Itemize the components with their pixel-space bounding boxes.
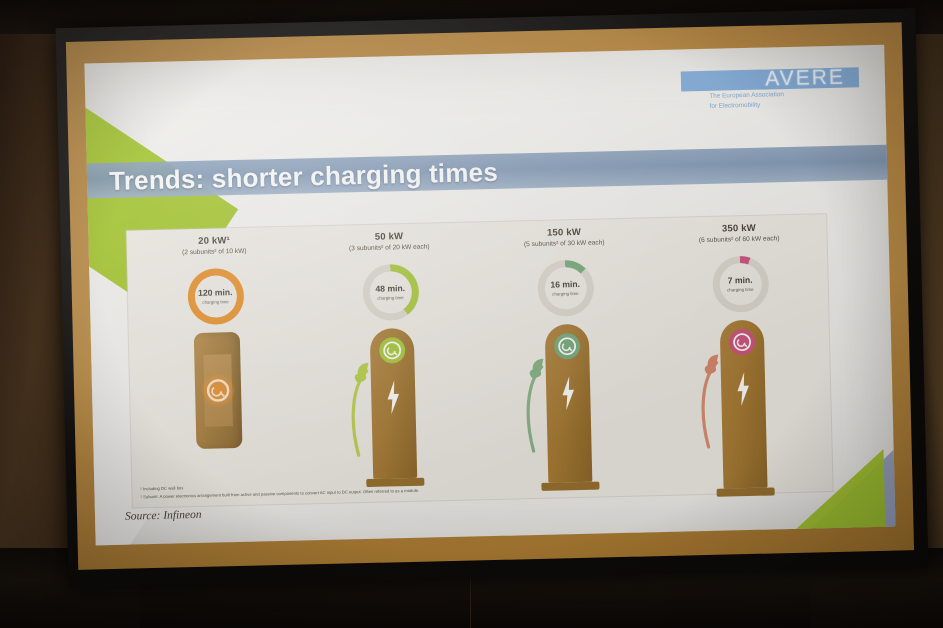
avere-logo-wordmark: AVERE	[765, 66, 845, 92]
page-title: Trends: shorter charging times	[109, 148, 810, 198]
donut-center: 120 min.charging time	[194, 275, 237, 318]
charging-time-donut: 120 min.charging time	[187, 268, 244, 325]
chart-column-3: 150 kW(5 subunits² of 30 kW each)16 min.…	[476, 218, 657, 499]
charging-time-donut: 48 min.charging time	[362, 264, 419, 321]
charging-minutes: 48 min.	[375, 284, 405, 293]
plug-icon	[553, 333, 580, 360]
charging-station-graphic	[369, 328, 417, 479]
subunits-label: (3 subunits² of 20 kW each)	[302, 242, 477, 253]
charging-minutes: 7 min.	[728, 276, 753, 285]
plug-glyph	[553, 333, 580, 360]
subunits-label: (5 subunits² of 30 kW each)	[477, 238, 652, 249]
charging-cable	[521, 355, 554, 466]
charging-station-graphic	[544, 324, 592, 483]
charging-cable	[346, 359, 379, 470]
charging-time-caption: charging time	[727, 286, 753, 292]
plug-icon	[378, 337, 405, 364]
column-header: 20 kW¹(2 subunits² of 10 kW)	[126, 233, 301, 257]
subunits-label: (2 subunits² of 10 kW)	[127, 246, 302, 257]
avere-tagline-line2: for Electromobility	[709, 99, 829, 111]
wallbox-unit	[193, 332, 242, 449]
cabinet-right	[470, 569, 811, 628]
donut-center: 7 min.charging time	[719, 263, 762, 306]
avere-logo-tagline: The European Association for Electromobi…	[709, 89, 829, 111]
chart-panel: 350 kW(6 subunits² of 60 kW each)7 min.c…	[126, 214, 832, 507]
room-photo: AVERE The European Association for Elect…	[0, 0, 943, 628]
column-header: 150 kW(5 subunits² of 30 kW each)	[476, 225, 651, 249]
charging-time-caption: charging time	[552, 291, 578, 297]
chart-column-1: 20 kW¹(2 subunits² of 10 kW)120 min.char…	[126, 226, 307, 507]
plug-glyph	[378, 337, 405, 364]
chart-column-2: 50 kW(3 subunits² of 20 kW each)48 min.c…	[301, 222, 482, 503]
donut-center: 48 min.charging time	[369, 271, 412, 314]
projector-screen: AVERE The European Association for Elect…	[56, 8, 929, 588]
plug-icon	[193, 332, 242, 449]
subunits-label: (6 subunits² of 60 kW each)	[652, 234, 827, 245]
column-header: 350 kW(6 subunits² of 60 kW each)	[651, 221, 826, 245]
screen-frame: AVERE The European Association for Elect…	[66, 22, 914, 570]
plug-icon	[728, 329, 755, 356]
charging-pillar	[369, 328, 417, 479]
charging-time-caption: charging time	[377, 295, 403, 301]
charging-station-graphic	[719, 320, 767, 489]
donut-center: 16 min.charging time	[544, 267, 587, 310]
charging-pillar	[544, 324, 592, 483]
plug-glyph	[728, 329, 755, 356]
source-caption: Source: Infineon	[125, 509, 202, 523]
charging-minutes: 16 min.	[550, 280, 580, 289]
charging-pillar	[719, 320, 767, 489]
charging-station-graphic	[193, 332, 242, 449]
charging-minutes: 120 min.	[198, 289, 233, 298]
column-header: 50 kW(3 subunits² of 20 kW each)	[301, 229, 476, 253]
charging-cable	[696, 351, 729, 462]
charging-time-caption: charging time	[202, 299, 228, 305]
chart-column-4: 350 kW(6 subunits² of 60 kW each)7 min.c…	[651, 214, 832, 495]
charging-time-donut: 16 min.charging time	[537, 260, 594, 317]
charging-time-donut: 7 min.charging time	[712, 255, 769, 312]
presentation-slide: AVERE The European Association for Elect…	[84, 45, 895, 546]
pillar-base	[716, 487, 774, 496]
